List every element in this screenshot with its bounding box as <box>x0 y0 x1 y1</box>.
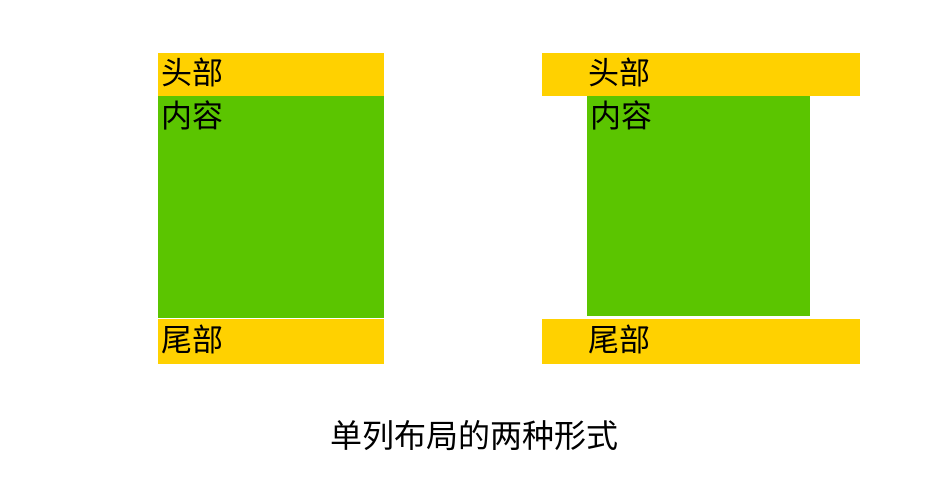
fullbleed-footer-block: 尾部 <box>542 319 860 364</box>
fullbleed-content-block: 内容 <box>587 96 810 316</box>
figure-canvas: 头部 内容 尾部 头部 内容 尾部 单列布局的两种形式 <box>0 0 948 488</box>
fullbleed-footer-label: 尾部 <box>588 322 650 360</box>
fullbleed-content-label: 内容 <box>590 98 652 136</box>
fullbleed-header-block: 头部 <box>542 53 860 96</box>
diagram-single-column-fullbleed: 头部 内容 尾部 <box>0 0 948 400</box>
fullbleed-header-label: 头部 <box>588 55 650 93</box>
figure-caption: 单列布局的两种形式 <box>0 414 948 458</box>
